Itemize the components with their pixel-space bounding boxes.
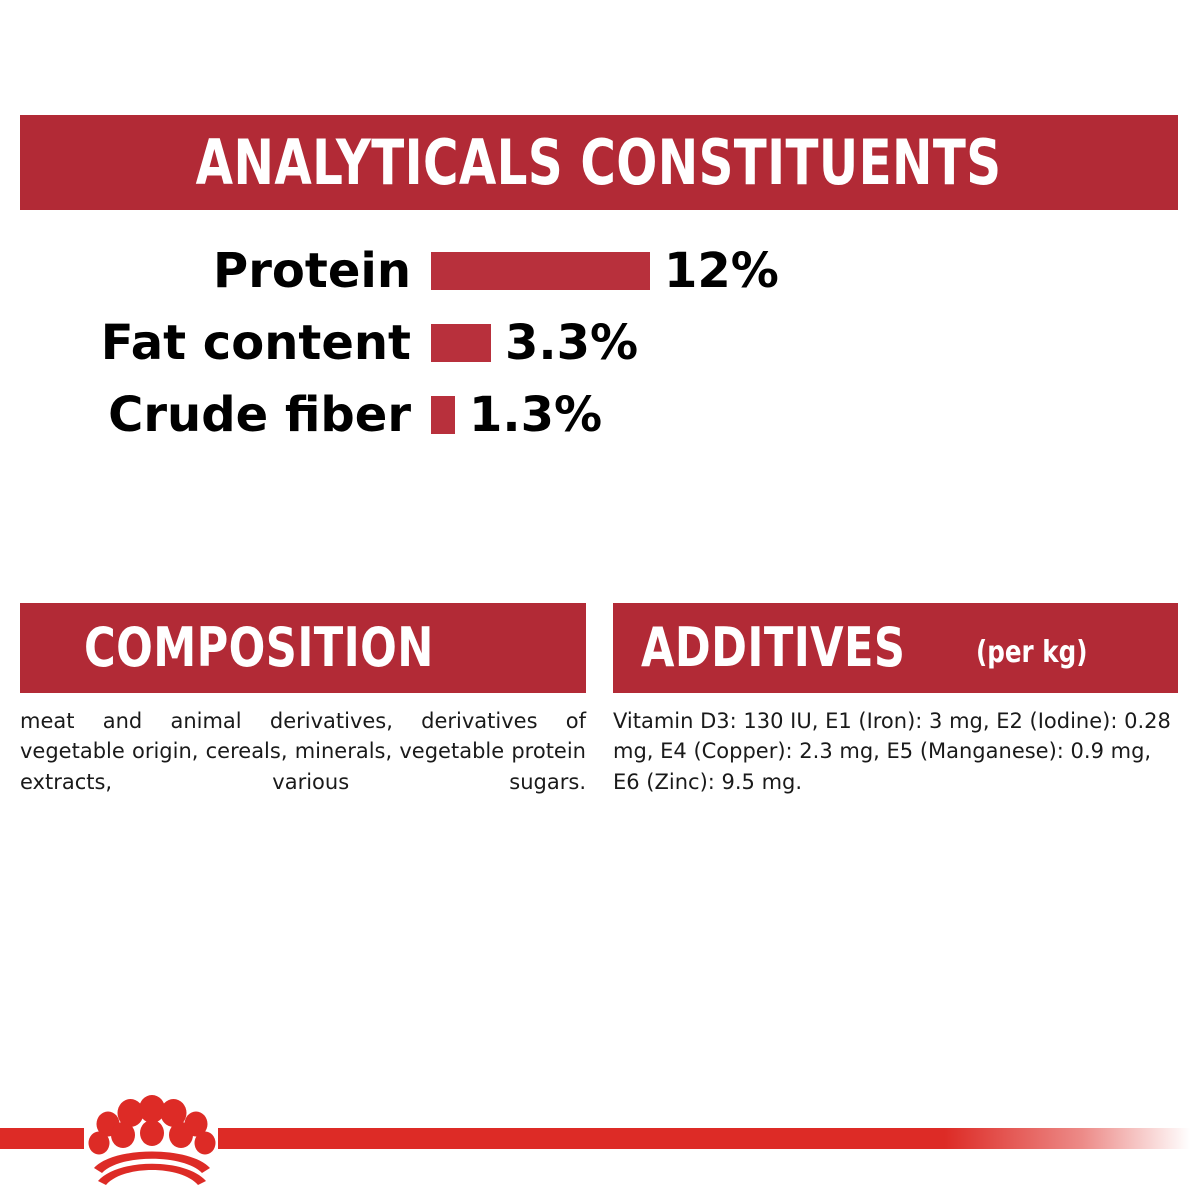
constituent-row: Fat content 3.3% xyxy=(0,307,1200,379)
constituent-row: Protein 12% xyxy=(0,235,1200,307)
analyticals-banner: ANALYTICALS CONSTITUENTS xyxy=(20,115,1178,210)
composition-banner: COMPOSITION xyxy=(20,603,586,693)
constituent-row: Crude fiber 1.3% xyxy=(0,379,1200,451)
constituent-bar-protein xyxy=(431,252,650,290)
additives-banner: ADDITIVES (per kg) xyxy=(613,603,1178,693)
constituent-bar-fat-content xyxy=(431,324,491,362)
footer xyxy=(0,1128,1200,1200)
constituents-chart: Protein 12% Fat content 3.3% Crude fiber… xyxy=(0,235,1200,451)
footer-rule-left xyxy=(0,1128,84,1149)
product-label-panel: ANALYTICALS CONSTITUENTS Protein 12% Fat… xyxy=(0,0,1200,1200)
composition-title: COMPOSITION xyxy=(84,621,434,675)
constituent-label-protein: Protein xyxy=(0,247,431,295)
additives-title: ADDITIVES xyxy=(641,621,905,675)
constituent-value-crude-fiber: 1.3% xyxy=(469,391,602,439)
analyticals-title: ANALYTICALS CONSTITUENTS xyxy=(196,132,1002,194)
additives-subtitle: (per kg) xyxy=(976,638,1087,668)
constituent-value-fat-content: 3.3% xyxy=(505,319,638,367)
footer-rule-right xyxy=(218,1128,1200,1149)
composition-text: meat and animal derivatives, derivatives… xyxy=(20,706,586,797)
additives-text: Vitamin D3: 130 IU, E1 (Iron): 3 mg, E2 … xyxy=(613,706,1180,797)
constituent-value-protein: 12% xyxy=(664,247,779,295)
constituent-bar-crude-fiber xyxy=(431,396,455,434)
constituent-label-fat-content: Fat content xyxy=(0,319,431,367)
constituent-label-crude-fiber: Crude fiber xyxy=(0,391,431,439)
crown-icon xyxy=(82,1094,222,1186)
